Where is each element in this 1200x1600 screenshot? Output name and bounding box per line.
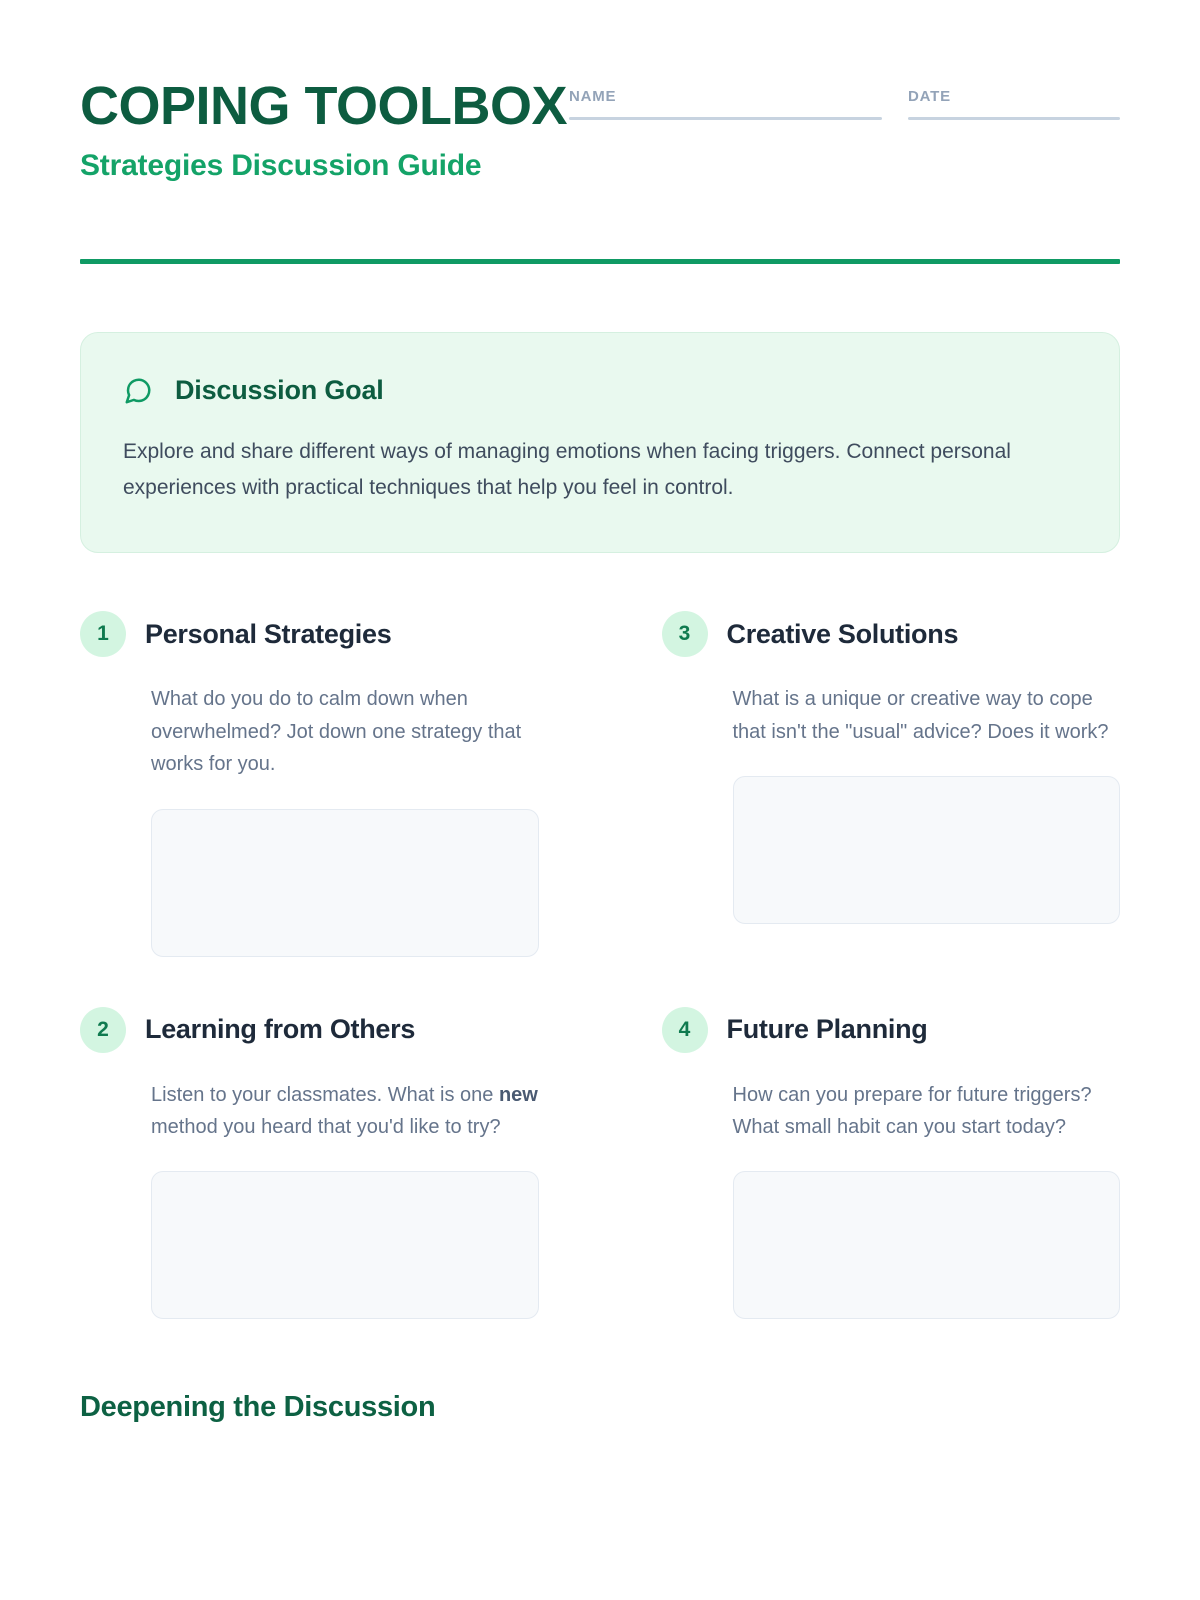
- prompt-body: How can you prepare for future triggers?…: [733, 1079, 1121, 1144]
- prompt-body-before: What is a unique or creative way to cope…: [733, 688, 1109, 742]
- prompt-body-before: How can you prepare for future triggers?…: [733, 1084, 1092, 1138]
- deepening-discussion-heading: Deepening the Discussion: [80, 1391, 1120, 1424]
- worksheet-page: COPING TOOLBOX Strategies Discussion Gui…: [0, 0, 1200, 1600]
- prompt-body: What do you do to calm down when overwhe…: [151, 683, 539, 780]
- date-label: DATE: [908, 88, 1120, 105]
- prompt-title: Personal Strategies: [145, 619, 391, 650]
- prompt-header: 3 Creative Solutions: [662, 611, 1121, 657]
- prompt-number-badge: 1: [80, 611, 126, 657]
- answer-box[interactable]: [151, 1171, 539, 1319]
- answer-box[interactable]: [151, 809, 539, 957]
- date-input-line[interactable]: [908, 117, 1120, 120]
- discussion-goal-title: Discussion Goal: [175, 375, 384, 406]
- prompt-number-badge: 2: [80, 1007, 126, 1053]
- prompt-card: 1 Personal Strategies What do you do to …: [80, 611, 539, 956]
- prompt-header: 2 Learning from Others: [80, 1007, 539, 1053]
- name-input-line[interactable]: [569, 117, 882, 120]
- name-label: NAME: [569, 88, 882, 105]
- prompt-header: 1 Personal Strategies: [80, 611, 539, 657]
- page-title: COPING TOOLBOX: [80, 78, 567, 135]
- prompt-body: What is a unique or creative way to cope…: [733, 683, 1121, 748]
- answer-box[interactable]: [733, 776, 1121, 924]
- meta-fields: NAME DATE: [569, 78, 1120, 120]
- name-field[interactable]: NAME: [569, 88, 882, 120]
- prompt-grid: 1 Personal Strategies What do you do to …: [80, 611, 1120, 1319]
- discussion-goal-callout: Discussion Goal Explore and share differ…: [80, 332, 1120, 553]
- prompt-body-after: method you heard that you'd like to try?: [151, 1116, 501, 1138]
- prompt-header: 4 Future Planning: [662, 1007, 1121, 1053]
- page-header: COPING TOOLBOX Strategies Discussion Gui…: [80, 0, 1120, 183]
- prompt-card: 4 Future Planning How can you prepare fo…: [662, 1007, 1121, 1320]
- prompt-title: Learning from Others: [145, 1014, 415, 1045]
- date-field[interactable]: DATE: [908, 88, 1120, 120]
- answer-box[interactable]: [733, 1171, 1121, 1319]
- prompt-card: 3 Creative Solutions What is a unique or…: [662, 611, 1121, 956]
- page-subtitle: Strategies Discussion Guide: [80, 149, 567, 183]
- prompt-title: Future Planning: [727, 1014, 928, 1045]
- prompt-body-before: What do you do to calm down when overwhe…: [151, 688, 521, 775]
- prompt-card: 2 Learning from Others Listen to your cl…: [80, 1007, 539, 1320]
- speech-bubble-icon: [123, 376, 153, 406]
- prompt-number-badge: 4: [662, 1007, 708, 1053]
- prompt-title: Creative Solutions: [727, 619, 959, 650]
- prompt-body-emphasis: new: [499, 1084, 538, 1106]
- prompt-body: Listen to your classmates. What is one n…: [151, 1079, 539, 1144]
- header-divider: [80, 259, 1120, 264]
- title-block: COPING TOOLBOX Strategies Discussion Gui…: [80, 78, 567, 183]
- discussion-goal-header: Discussion Goal: [123, 375, 1077, 406]
- prompt-number-badge: 3: [662, 611, 708, 657]
- discussion-goal-text: Explore and share different ways of mana…: [123, 434, 1077, 506]
- prompt-body-before: Listen to your classmates. What is one: [151, 1084, 499, 1106]
